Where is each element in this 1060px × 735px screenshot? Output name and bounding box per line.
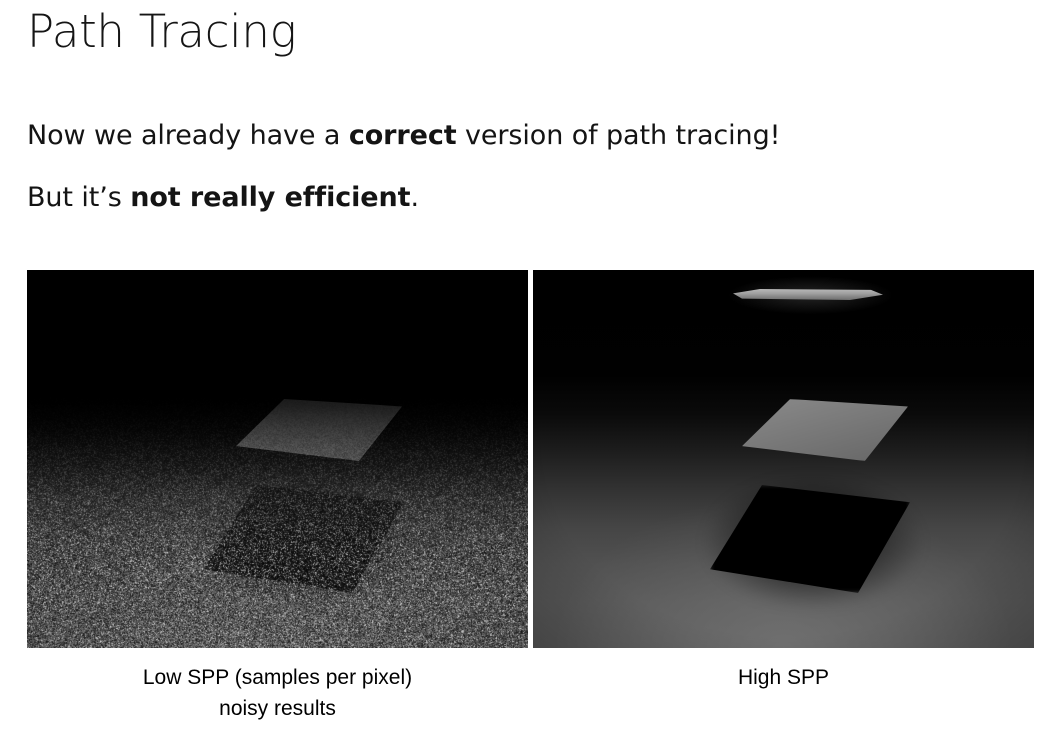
caption-high-spp: High SPP bbox=[533, 662, 1034, 693]
body-line-2-emphasis: not really efficient bbox=[130, 182, 410, 213]
body-line-1-emphasis: correct bbox=[349, 120, 457, 151]
slide-root: Path Tracing Now we already have a corre… bbox=[0, 0, 1060, 735]
figure-row bbox=[27, 270, 1033, 648]
body-line-2: But it’s not really efficient. bbox=[27, 181, 419, 215]
body-line-2-pre: But it’s bbox=[27, 182, 130, 213]
render-scene-low-spp bbox=[27, 270, 528, 648]
body-line-1: Now we already have a correct version of… bbox=[27, 119, 780, 153]
light-glow bbox=[187, 270, 422, 330]
body-line-1-post: version of path tracing! bbox=[457, 120, 781, 151]
render-scene-high-spp bbox=[533, 270, 1034, 648]
render-image-low-spp bbox=[27, 270, 528, 648]
render-image-high-spp bbox=[533, 270, 1034, 648]
light-glow bbox=[693, 270, 928, 330]
page-title: Path Tracing bbox=[27, 2, 296, 62]
body-line-2-post: . bbox=[410, 182, 418, 213]
body-line-1-pre: Now we already have a bbox=[27, 120, 349, 151]
caption-low-spp: Low SPP (samples per pixel) noisy result… bbox=[27, 662, 528, 724]
